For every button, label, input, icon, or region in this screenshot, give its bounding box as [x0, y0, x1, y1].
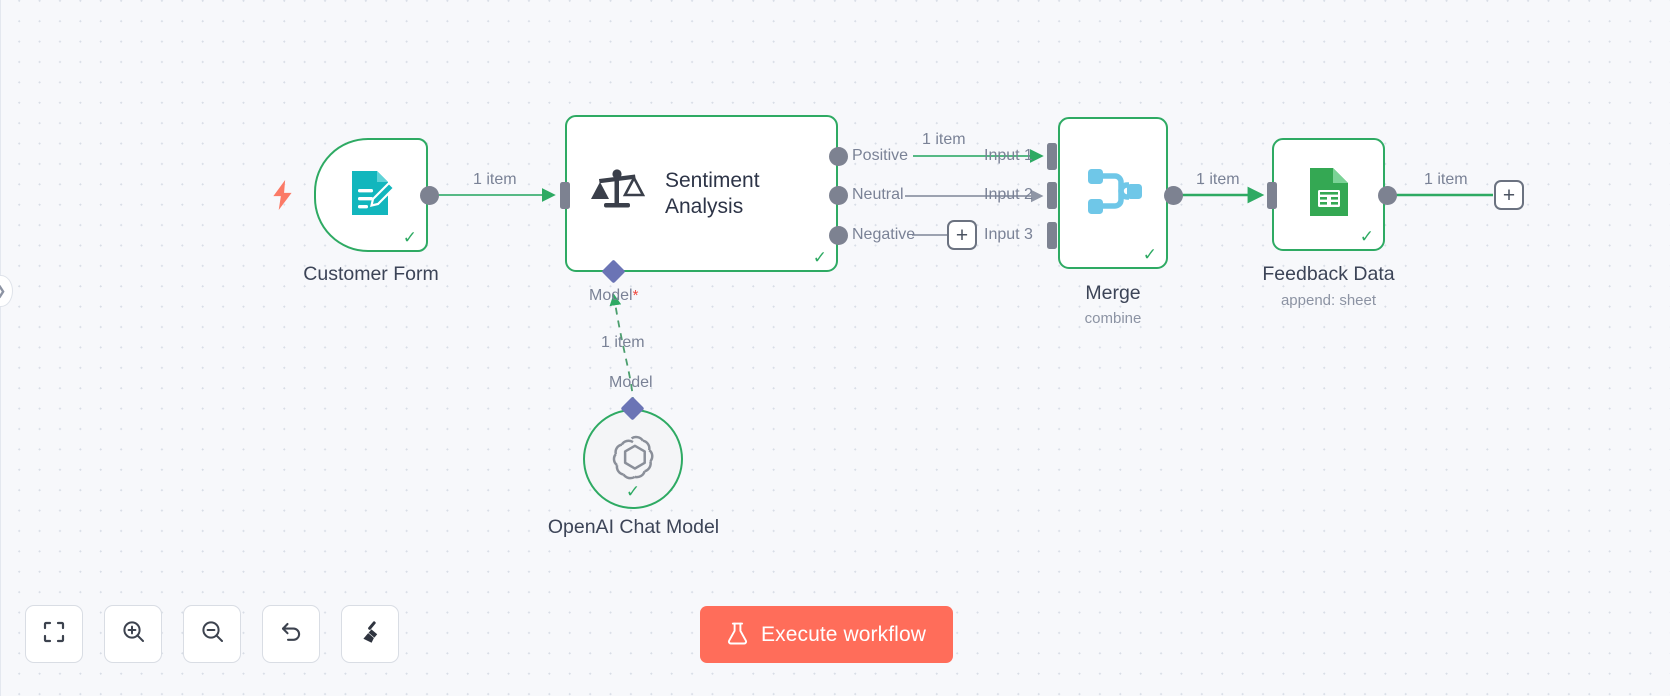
input-port-merge-1[interactable] [1047, 143, 1057, 170]
edge-label-model-link: 1 item [601, 334, 645, 352]
workflow-canvas[interactable]: ❯ [0, 0, 1670, 696]
connection-edges [0, 0, 1670, 696]
execute-workflow-button[interactable]: Execute workflow [700, 606, 953, 663]
chevron-right-icon: ❯ [0, 283, 6, 299]
node-label-sentiment-analysis: Sentiment Analysis [665, 168, 795, 218]
node-success-check: ✓ [813, 249, 827, 266]
input-port-merge-2[interactable] [1047, 182, 1057, 209]
edge-label-feedback-to-next: 1 item [1424, 171, 1468, 189]
google-sheets-icon [1307, 166, 1351, 223]
input-port-feedback-data[interactable] [1267, 182, 1277, 209]
output-port-merge[interactable] [1164, 186, 1183, 205]
zoom-out-button[interactable] [183, 605, 241, 663]
node-merge[interactable]: ✓ [1058, 117, 1168, 269]
left-panel-toggle[interactable]: ❯ [0, 275, 13, 307]
zoom-out-icon [201, 620, 224, 648]
output-label-negative: Negative [852, 226, 915, 244]
node-subtitle-feedback-data: append: sheet [1250, 292, 1407, 309]
node-title-openai-chat-model: OpenAI Chat Model [540, 516, 727, 539]
canvas-toolbar [25, 605, 399, 663]
output-label-neutral: Neutral [852, 186, 904, 204]
fit-screen-icon [43, 621, 65, 648]
broom-icon [358, 620, 382, 649]
node-success-check: ✓ [1360, 228, 1374, 245]
edge-label-trigger-to-sentiment: 1 item [473, 171, 517, 189]
edge-label-positive-to-input1: 1 item [922, 131, 966, 149]
node-sentiment-analysis[interactable]: Sentiment Analysis ✓ [565, 115, 838, 272]
openai-logo-icon [609, 433, 657, 486]
input-label-merge-2: Input 2 [984, 186, 1033, 204]
node-openai-chat-model[interactable]: ✓ [583, 409, 683, 509]
flask-icon [727, 622, 748, 648]
merge-tree-icon [1083, 162, 1143, 225]
input-label-merge-1: Input 1 [984, 147, 1033, 165]
node-customer-form[interactable]: ✓ [314, 138, 428, 252]
trigger-bolt-icon [270, 180, 296, 210]
zoom-in-button[interactable] [104, 605, 162, 663]
reset-zoom-button[interactable] [262, 605, 320, 663]
node-title-merge: Merge [1058, 282, 1168, 305]
output-port-positive[interactable] [829, 147, 848, 166]
ai-output-label-model: Model [609, 374, 653, 392]
input-port-merge-3[interactable] [1047, 222, 1057, 249]
execute-workflow-label: Execute workflow [761, 623, 926, 647]
scales-balance-icon [589, 166, 645, 221]
zoom-to-fit-button[interactable] [25, 605, 83, 663]
output-port-customer-form[interactable] [420, 186, 439, 205]
output-port-feedback-data[interactable] [1378, 186, 1397, 205]
node-success-check: ✓ [585, 483, 681, 500]
node-success-check: ✓ [1143, 246, 1157, 263]
tidy-up-button[interactable] [341, 605, 399, 663]
form-edit-icon [348, 169, 394, 222]
undo-arrow-icon [280, 620, 303, 648]
edge-label-merge-to-feedback: 1 item [1196, 171, 1240, 189]
left-panel-rail [0, 0, 1, 696]
node-title-feedback-data: Feedback Data [1250, 263, 1407, 286]
node-subtitle-merge: combine [1058, 310, 1168, 327]
input-port-sentiment-analysis[interactable] [560, 182, 570, 209]
node-success-check: ✓ [403, 229, 417, 246]
output-label-positive: Positive [852, 147, 908, 165]
add-node-button-tail[interactable]: + [1494, 180, 1524, 210]
output-port-negative[interactable] [829, 226, 848, 245]
node-feedback-data[interactable]: ✓ [1272, 138, 1385, 251]
zoom-in-icon [122, 620, 145, 648]
node-title-customer-form: Customer Form [299, 263, 443, 286]
ai-input-label-model: Model [589, 287, 638, 305]
add-node-button-negative[interactable]: + [947, 220, 977, 250]
input-label-merge-3: Input 3 [984, 226, 1033, 244]
output-port-neutral[interactable] [829, 186, 848, 205]
